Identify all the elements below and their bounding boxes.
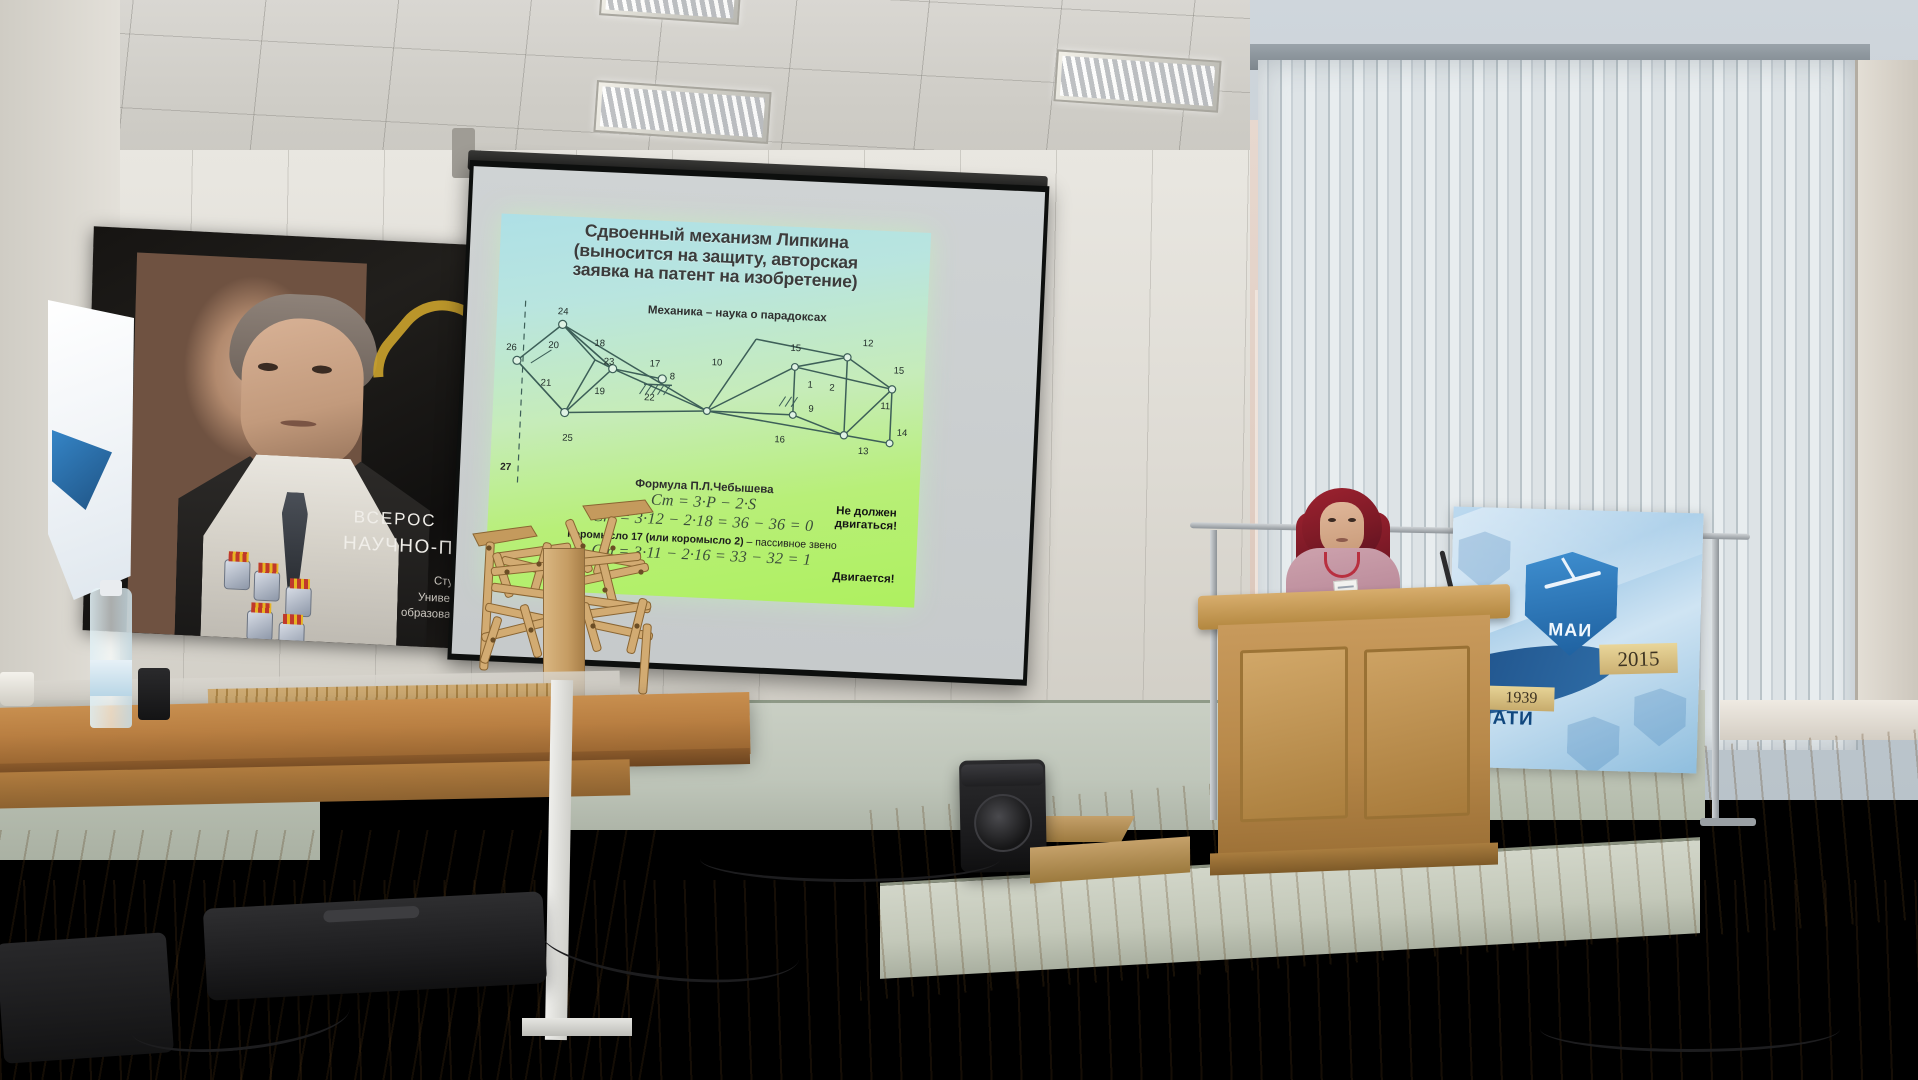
poster-headline-1: ВСЕРОС xyxy=(354,507,437,531)
portrait-medal xyxy=(246,610,273,641)
link-label: 1 xyxy=(807,380,813,391)
portrait-face xyxy=(239,316,365,472)
presenter-mouth xyxy=(1336,538,1348,542)
black-device-on-table xyxy=(138,668,170,720)
banner-rail-post xyxy=(1712,534,1719,824)
link-label: 8 xyxy=(669,371,675,382)
banner-rail-foot xyxy=(1700,818,1756,826)
link-label: 15 xyxy=(893,365,904,376)
loudspeaker-driver xyxy=(974,793,1033,852)
link-label: 17 xyxy=(649,358,660,369)
podium xyxy=(1210,590,1510,890)
link-label: 15 xyxy=(790,343,801,354)
slide-note-not-move: Не должен двигаться! xyxy=(820,504,913,534)
link-label: 23 xyxy=(603,356,614,367)
podium-front-panel xyxy=(1364,646,1470,820)
link-label: 20 xyxy=(548,340,559,351)
link-label: 9 xyxy=(808,404,814,415)
link-label: 13 xyxy=(858,446,869,457)
link-label: 2 xyxy=(829,383,835,394)
conference-hall-scene: ВСЕРОС НАУЧНО-ПРА Ступинский Университет… xyxy=(0,0,1918,1080)
mai-logo-text: МАИ xyxy=(1524,619,1617,643)
link-label: 24 xyxy=(558,306,569,317)
case-handle xyxy=(323,906,419,923)
paper-cup xyxy=(0,672,34,706)
portrait-medal xyxy=(253,570,280,601)
floor-cable xyxy=(1540,1006,1840,1052)
link-label: 11 xyxy=(880,401,890,412)
link-label: 26 xyxy=(506,342,517,353)
link-label: 22 xyxy=(644,392,655,403)
portrait-medal xyxy=(224,559,251,590)
loudspeaker-control-panel xyxy=(961,763,1043,786)
equipment-case xyxy=(203,891,547,1001)
link-label: 10 xyxy=(712,357,723,368)
portrait-medal xyxy=(285,586,312,617)
conference-poster: ВСЕРОС НАУЧНО-ПРА Ступинский Университет… xyxy=(83,226,494,649)
presenter-eye-left xyxy=(1328,518,1336,522)
link-label: 25 xyxy=(562,432,573,443)
bottle-cap xyxy=(100,580,122,596)
floor-cable xyxy=(700,836,1000,882)
link-label: 16 xyxy=(774,434,785,445)
link-label: 19 xyxy=(594,386,605,397)
table-foot xyxy=(522,1018,632,1036)
podium-front-panel xyxy=(1240,646,1348,822)
poster-portrait-photo xyxy=(127,252,367,643)
mai-shield-icon: МАИ xyxy=(1524,551,1619,658)
link-label: 14 xyxy=(897,428,908,439)
banner-watermark-shield-icon xyxy=(1633,688,1687,747)
link-label: 18 xyxy=(594,338,605,349)
podium-body xyxy=(1218,615,1490,863)
link-label: 21 xyxy=(540,377,551,388)
presenter-eye-right xyxy=(1348,518,1356,522)
banner-watermark-shield-icon xyxy=(1566,716,1620,774)
slide-note-moves: Двигается! xyxy=(817,570,909,587)
window-frame xyxy=(1855,60,1918,710)
slide-title: Сдвоенный механизм Липкина (выносится на… xyxy=(507,218,925,296)
link-label: 12 xyxy=(863,338,874,349)
water-bottle xyxy=(90,588,132,728)
mai-logo-year: 2015 xyxy=(1599,643,1678,675)
bottle-label xyxy=(90,660,132,696)
